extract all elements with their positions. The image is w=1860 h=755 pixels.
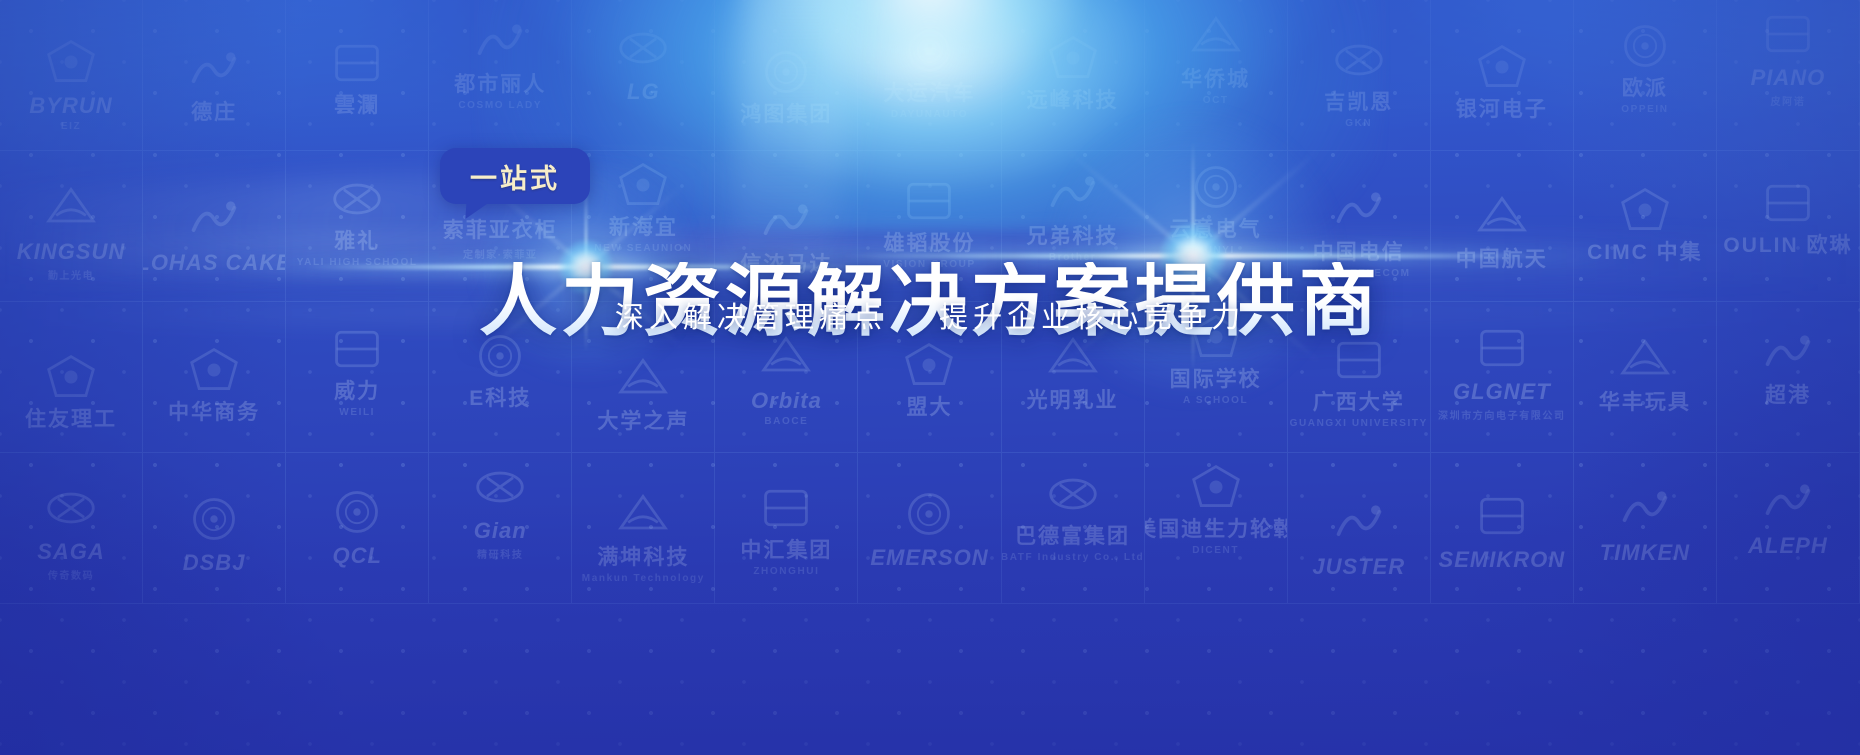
tagline-badge-label: 一站式 bbox=[470, 157, 560, 196]
page-subtitle-part2: 提升企业核心竞争力 bbox=[939, 302, 1245, 334]
page-subtitle: 深入解决管理痛点 提升企业核心竞争力 bbox=[0, 294, 1860, 336]
tagline-badge: 一站式 bbox=[440, 148, 590, 204]
bottom-vignette bbox=[0, 495, 1860, 755]
hero-banner: BYRUNEIZ德庄雲瀾都市丽人COSMO LADYLG鸿图集团大运汽车DAYU… bbox=[0, 0, 1860, 755]
page-subtitle-part1: 深入解决管理痛点 bbox=[615, 302, 887, 334]
